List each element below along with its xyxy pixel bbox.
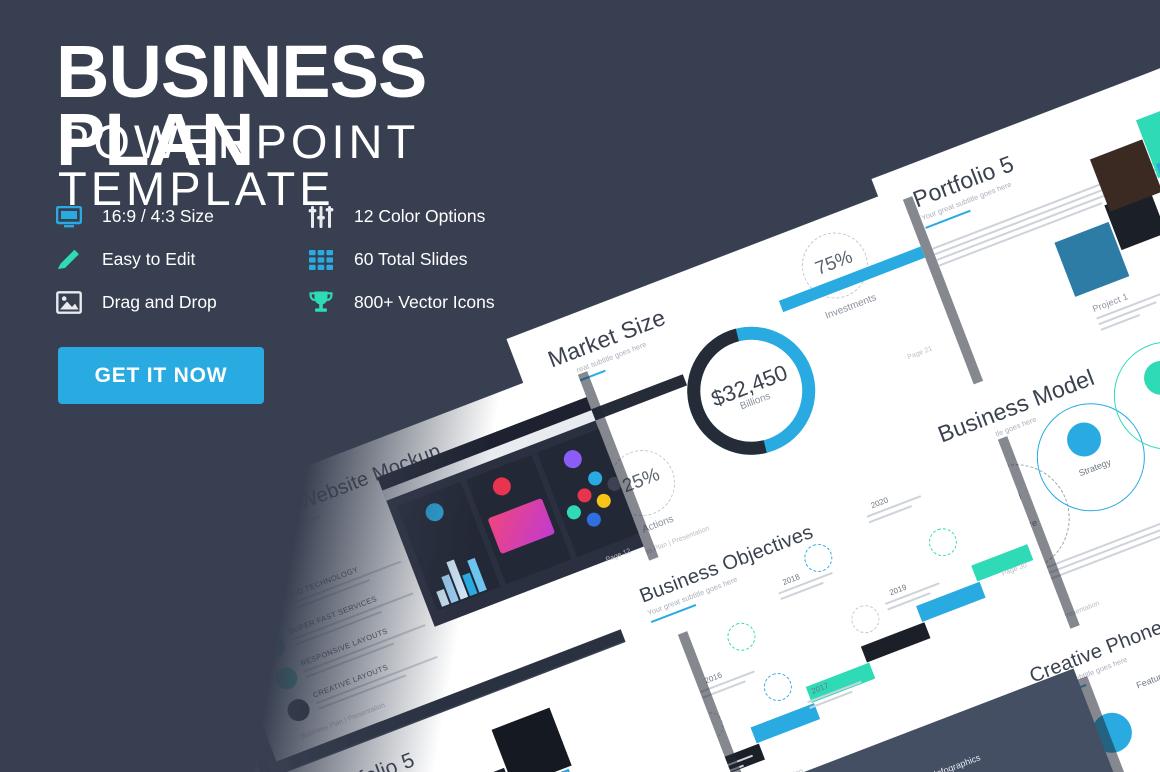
image-icon xyxy=(56,290,90,316)
feature-label: Easy to Edit xyxy=(102,249,195,270)
grid-icon xyxy=(308,247,342,273)
feature-item-edit: Easy to Edit xyxy=(56,239,217,280)
milestone-icon-circle xyxy=(925,524,961,560)
service-label: Infographics xyxy=(932,752,981,772)
feature-label: 60 Total Slides xyxy=(354,249,468,270)
pencil-icon xyxy=(56,247,90,273)
feature-item-size: 16:9 / 4:3 Size xyxy=(56,196,217,237)
feature-item-slides: 60 Total Slides xyxy=(308,239,495,280)
monitor-icon xyxy=(56,204,90,230)
slide-page-number: Page 21 xyxy=(907,345,934,361)
feature-item-icons: 800+ Vector Icons xyxy=(308,282,495,323)
feature-item-colors: 12 Color Options xyxy=(308,196,495,237)
sliders-icon xyxy=(308,204,342,230)
feature-item-drag-drop: Drag and Drop xyxy=(56,282,217,323)
feature-label: Drag and Drop xyxy=(102,292,217,313)
feature-label: Features xyxy=(1135,668,1160,690)
promo-artboard: Portfolio 5 Your great subtitle goes her… xyxy=(0,0,1160,772)
feature-label: 12 Color Options xyxy=(354,206,485,227)
feature-column-2: 12 Color Options xyxy=(308,196,495,325)
feature-column-1: 16:9 / 4:3 Size Easy to Edit xyxy=(56,196,217,325)
rocket-icon xyxy=(891,769,930,772)
trophy-icon xyxy=(308,290,342,316)
promo-copy-panel: BUSINESS PLAN POWERPOINT TEMPLATE 16:9 /… xyxy=(0,0,520,772)
feature-label: 800+ Vector Icons xyxy=(354,292,495,313)
get-it-now-button[interactable]: GET IT NOW xyxy=(58,347,264,404)
feature-label: 16:9 / 4:3 Size xyxy=(102,206,214,227)
